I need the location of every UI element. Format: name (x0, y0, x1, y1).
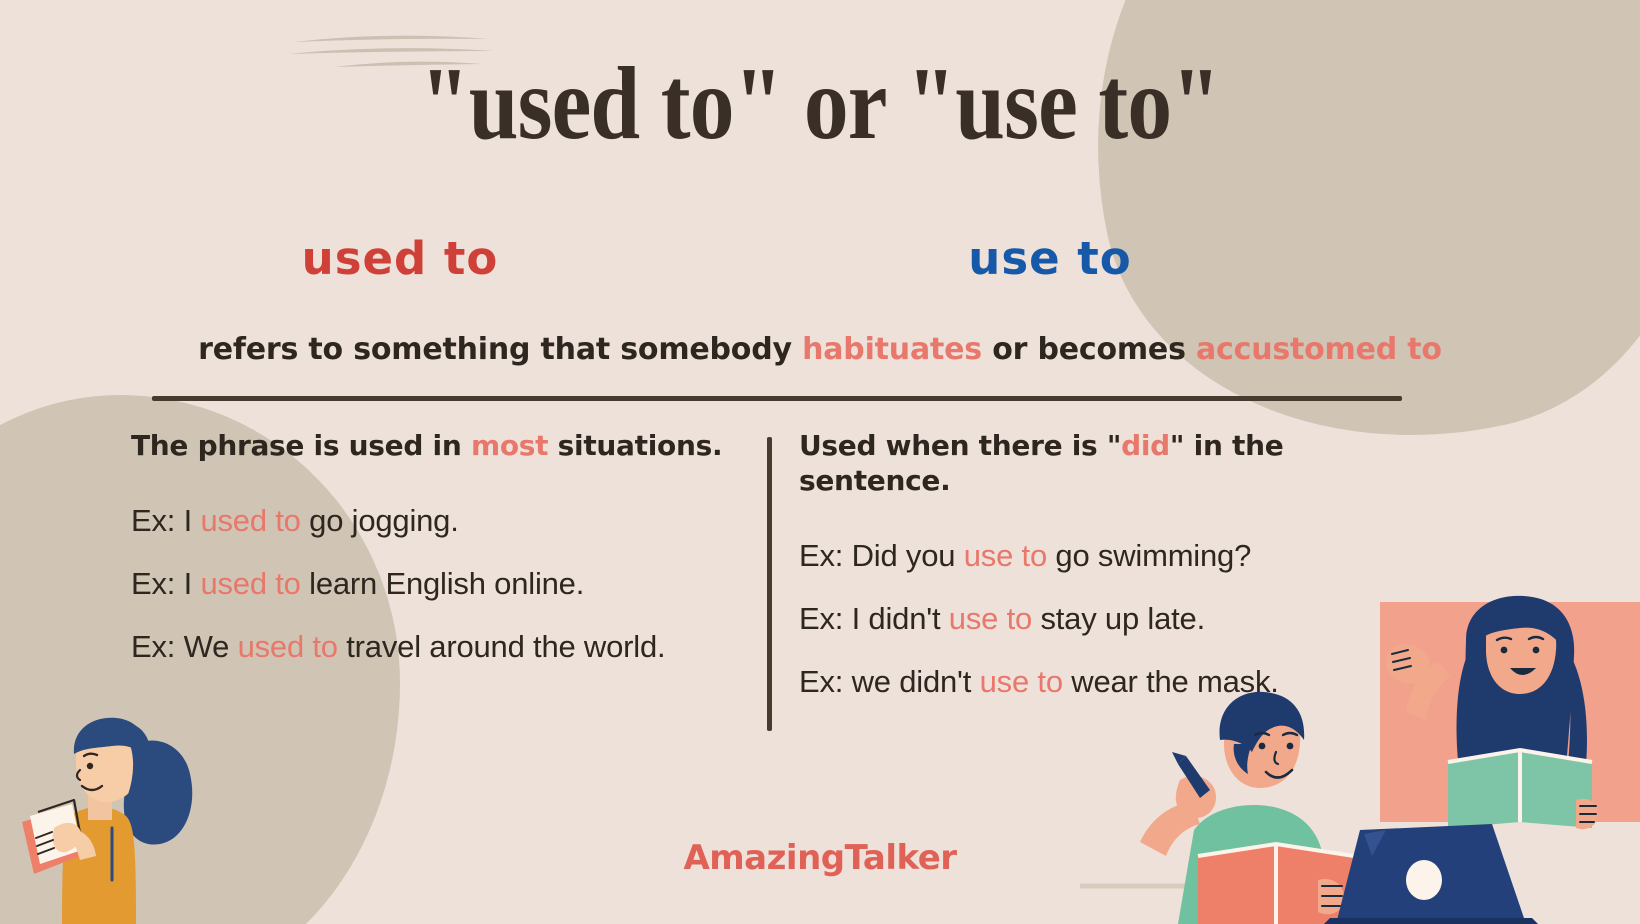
definition-part1: refers to something that somebody (198, 332, 802, 367)
example-right-1-highlight: use to (964, 538, 1047, 573)
example-left-2-highlight: used to (200, 566, 300, 601)
horizontal-divider (152, 396, 1402, 401)
shared-definition-text: refers to something that somebody habitu… (0, 332, 1640, 367)
column-heading-use-to: use to (790, 232, 1310, 285)
rule-text-right: Used when there is "did" in the sentence… (799, 428, 1419, 498)
example-left-1: Ex: I used to go jogging. (131, 501, 751, 542)
laptop-logo (1406, 860, 1442, 900)
example-right-1-prefix: Ex: Did you (799, 538, 964, 573)
example-left-3: Ex: We used to travel around the world. (131, 627, 751, 668)
definition-part2: or becomes (982, 332, 1196, 367)
example-left-2-suffix: learn English online. (301, 566, 584, 601)
example-left-1-suffix: go jogging. (301, 503, 459, 538)
column-heading-used-to: used to (130, 232, 670, 285)
rule-left-suffix: situations. (548, 429, 722, 462)
example-left-3-prefix: Ex: We (131, 629, 238, 664)
example-left-3-suffix: travel around the world. (338, 629, 666, 664)
example-right-3-highlight: use to (980, 664, 1063, 699)
example-right-2-highlight: use to (949, 601, 1032, 636)
page-title: "used to" or "use to" (115, 48, 1525, 160)
column-left-used-to: The phrase is used in most situations. E… (131, 428, 751, 690)
example-right-3-prefix: Ex: we didn't (799, 664, 980, 699)
rule-left-highlight: most (471, 429, 548, 462)
definition-highlight-habituates: habituates (802, 332, 982, 367)
example-left-2-prefix: Ex: I (131, 566, 200, 601)
example-right-2-prefix: Ex: I didn't (799, 601, 949, 636)
girl-reading-book-illustration (8, 704, 218, 924)
definition-highlight-accustomed-to: accustomed to (1196, 332, 1442, 367)
boy-writing-and-woman-reading-illustration (1080, 594, 1640, 924)
rule-left-prefix: The phrase is used in (131, 429, 471, 462)
example-left-1-prefix: Ex: I (131, 503, 200, 538)
infographic-page: "used to" or "use to" used to use to ref… (0, 0, 1640, 924)
example-right-1-suffix: go swimming? (1047, 538, 1251, 573)
rule-text-left: The phrase is used in most situations. (131, 428, 751, 463)
vertical-divider (767, 437, 772, 731)
rule-right-highlight: did (1121, 429, 1170, 462)
example-left-1-highlight: used to (200, 503, 300, 538)
laptop-base (1324, 918, 1538, 924)
rule-right-prefix: Used when there is " (799, 429, 1121, 462)
example-left-3-highlight: used to (238, 629, 338, 664)
example-left-2: Ex: I used to learn English online. (131, 564, 751, 605)
example-right-1: Ex: Did you use to go swimming? (799, 536, 1419, 577)
